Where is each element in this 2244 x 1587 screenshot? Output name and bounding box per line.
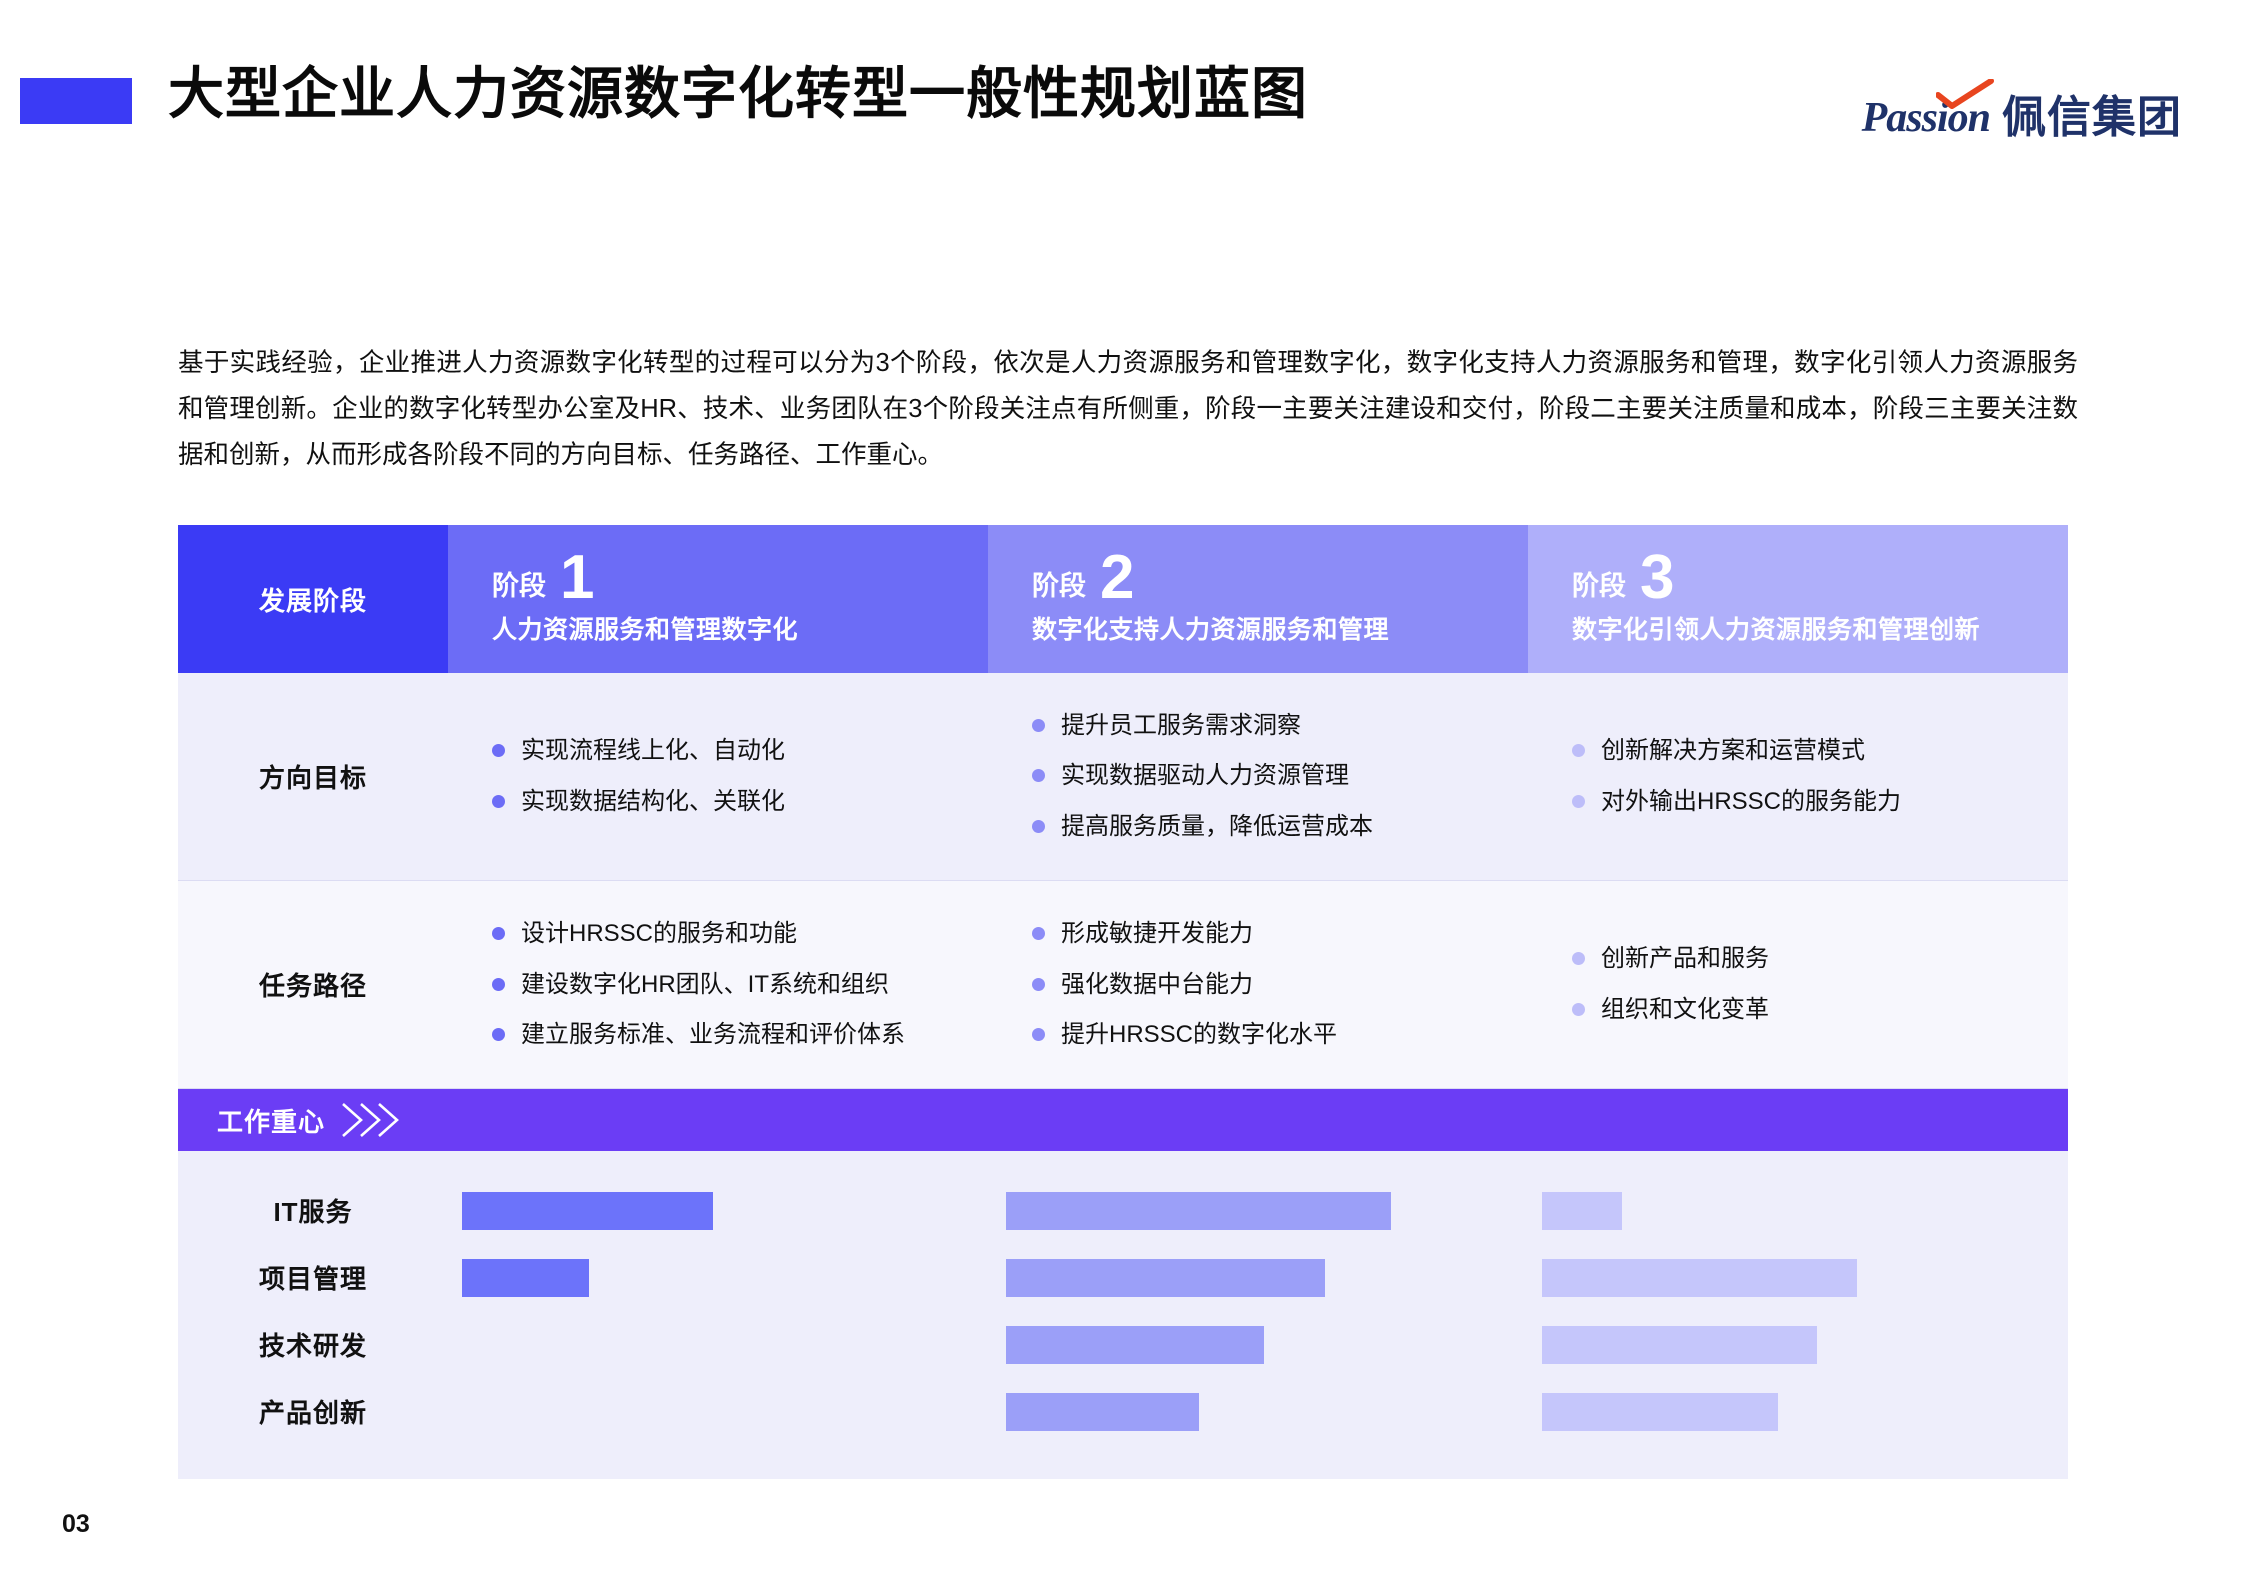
stage-word-3: 阶段 <box>1572 573 1626 604</box>
list-item: 创新产品和服务 <box>1572 934 2038 984</box>
brand-logo: Passion 佩信集团 <box>1862 88 2182 148</box>
bullet-icon <box>492 978 505 991</box>
stage-subtitle-2: 数字化支持人力资源服务和管理 <box>1032 610 1528 646</box>
chart-track-stage-3 <box>1528 1378 2068 1445</box>
paths-stage-3: 创新产品和服务 组织和文化变革 <box>1528 881 2068 1088</box>
table-row-paths: 任务路径 设计HRSSC的服务和功能 建设数字化HR团队、IT系统和组织 建立服… <box>178 881 2068 1089</box>
bar-stage3-it-service <box>1542 1192 1622 1230</box>
goals-stage-2: 提升员工服务需求洞察 实现数据驱动人力资源管理 提高服务质量，降低运营成本 <box>988 673 1528 880</box>
chart-category-label: IT服务 <box>178 1192 448 1229</box>
list-item: 建设数字化HR团队、IT系统和组织 <box>492 960 958 1010</box>
chart-category-label: 项目管理 <box>178 1259 448 1296</box>
bar-stage1-project-mgmt <box>462 1259 589 1297</box>
chart-row-tech-rnd: 技术研发 <box>178 1311 2068 1378</box>
bar-stage3-tech-rnd <box>1542 1326 1817 1364</box>
list-item: 提升员工服务需求洞察 <box>1032 701 1498 751</box>
goals-stage-1: 实现流程线上化、自动化 实现数据结构化、关联化 <box>448 673 988 880</box>
bullet-icon <box>1032 820 1045 833</box>
bullet-icon <box>492 1028 505 1041</box>
page-number: 03 <box>62 1510 90 1539</box>
bullet-icon <box>1572 795 1585 808</box>
table-header-row: 发展阶段 阶段 1 人力资源服务和管理数字化 阶段 2 数字化支持人力资源服务和… <box>178 525 2068 673</box>
list-item-label: 建立服务标准、业务流程和评价体系 <box>521 1019 905 1051</box>
list-item: 设计HRSSC的服务和功能 <box>492 909 958 959</box>
stage-subtitle-1: 人力资源服务和管理数字化 <box>492 610 988 646</box>
chart-row-product-innovation: 产品创新 <box>178 1378 2068 1445</box>
list-item-label: 强化数据中台能力 <box>1061 969 1253 1001</box>
row-header-focus-wrap: 工作重心 <box>178 1100 448 1140</box>
focus-bar: 工作重心 <box>178 1089 2068 1151</box>
list-item: 建立服务标准、业务流程和评价体系 <box>492 1010 958 1060</box>
row-header-stage: 发展阶段 <box>178 525 448 673</box>
page-title: 大型企业人力资源数字化转型一般性规划蓝图 <box>168 62 1308 126</box>
list-item: 强化数据中台能力 <box>1032 960 1498 1010</box>
stage-word-2: 阶段 <box>1032 573 1086 604</box>
chart-track-stage-3 <box>1528 1244 2068 1311</box>
chart-category-label: 产品创新 <box>178 1393 448 1430</box>
bar-stage3-project-mgmt <box>1542 1259 1857 1297</box>
list-item: 提升HRSSC的数字化水平 <box>1032 1010 1498 1060</box>
logo-latin-text: Passion <box>1862 97 1990 139</box>
list-item-label: 实现数据结构化、关联化 <box>521 786 785 818</box>
list-item-label: 实现数据驱动人力资源管理 <box>1061 760 1349 792</box>
list-item-label: 创新产品和服务 <box>1601 943 1769 975</box>
list-item: 形成敏捷开发能力 <box>1032 909 1498 959</box>
list-item-label: 提高服务质量，降低运营成本 <box>1061 811 1373 843</box>
bar-stage2-project-mgmt <box>1006 1259 1325 1297</box>
stage-number-2: 2 <box>1100 552 1134 605</box>
stage-header-2: 阶段 2 数字化支持人力资源服务和管理 <box>988 525 1528 673</box>
bar-stage2-product-innovation <box>1006 1393 1199 1431</box>
list-item-label: 提升员工服务需求洞察 <box>1061 710 1301 742</box>
double-chevron-right-icon <box>339 1100 409 1140</box>
list-item-label: 创新解决方案和运营模式 <box>1601 735 1865 767</box>
bullet-icon <box>1032 927 1045 940</box>
bar-stage2-tech-rnd <box>1006 1326 1264 1364</box>
chart-track-stage-2 <box>988 1177 1528 1244</box>
paths-stage-2: 形成敏捷开发能力 强化数据中台能力 提升HRSSC的数字化水平 <box>988 881 1528 1088</box>
bullet-icon <box>492 744 505 757</box>
list-item: 组织和文化变革 <box>1572 985 2038 1035</box>
bullet-icon <box>1032 1028 1045 1041</box>
bullet-icon <box>492 927 505 940</box>
row-header-path: 任务路径 <box>178 881 448 1088</box>
bar-stage1-it-service <box>462 1192 713 1230</box>
row-header-goal: 方向目标 <box>178 673 448 880</box>
list-item-label: 提升HRSSC的数字化水平 <box>1061 1019 1337 1051</box>
bar-stage3-product-innovation <box>1542 1393 1778 1431</box>
list-item: 创新解决方案和运营模式 <box>1572 726 2038 776</box>
stage-subtitle-3: 数字化引领人力资源服务和管理创新 <box>1572 610 2068 646</box>
title-accent-block <box>20 78 132 124</box>
roadmap-table: 发展阶段 阶段 1 人力资源服务和管理数字化 阶段 2 数字化支持人力资源服务和… <box>178 525 2068 1479</box>
list-item: 实现数据驱动人力资源管理 <box>1032 751 1498 801</box>
chart-category-label: 技术研发 <box>178 1326 448 1363</box>
chart-track-stage-3 <box>1528 1311 2068 1378</box>
stage-header-3: 阶段 3 数字化引领人力资源服务和管理创新 <box>1528 525 2068 673</box>
chart-track-stage-1 <box>448 1244 988 1311</box>
list-item-label: 形成敏捷开发能力 <box>1061 918 1253 950</box>
bullet-icon <box>1032 719 1045 732</box>
bullet-icon <box>1572 952 1585 965</box>
list-item-label: 对外输出HRSSC的服务能力 <box>1601 786 1901 818</box>
focus-bar-chart: IT服务 项目管理 技术研发 产品创新 <box>178 1151 2068 1479</box>
bullet-icon <box>492 795 505 808</box>
check-icon <box>1936 79 1994 109</box>
table-row-goals: 方向目标 实现流程线上化、自动化 实现数据结构化、关联化 提升员工服务需求洞察 … <box>178 673 2068 881</box>
chart-track-stage-3 <box>1528 1177 2068 1244</box>
chart-track-stage-2 <box>988 1311 1528 1378</box>
chart-track-stage-1 <box>448 1378 988 1445</box>
list-item-label: 设计HRSSC的服务和功能 <box>521 918 797 950</box>
stage-number-3: 3 <box>1640 552 1674 605</box>
chart-track-stage-1 <box>448 1177 988 1244</box>
list-item-label: 建设数字化HR团队、IT系统和组织 <box>521 969 889 1001</box>
row-header-focus: 工作重心 <box>217 1102 325 1139</box>
list-item: 提高服务质量，降低运营成本 <box>1032 802 1498 852</box>
chart-track-stage-2 <box>988 1378 1528 1445</box>
chart-track-stage-2 <box>988 1244 1528 1311</box>
list-item-label: 实现流程线上化、自动化 <box>521 735 785 767</box>
list-item: 实现数据结构化、关联化 <box>492 777 958 827</box>
bullet-icon <box>1032 978 1045 991</box>
chart-row-it-service: IT服务 <box>178 1177 2068 1244</box>
bullet-icon <box>1572 744 1585 757</box>
paths-stage-1: 设计HRSSC的服务和功能 建设数字化HR团队、IT系统和组织 建立服务标准、业… <box>448 881 988 1088</box>
bar-stage2-it-service <box>1006 1192 1391 1230</box>
chart-track-stage-1 <box>448 1311 988 1378</box>
list-item-label: 组织和文化变革 <box>1601 994 1769 1026</box>
stage-word-1: 阶段 <box>492 573 546 604</box>
goals-stage-3: 创新解决方案和运营模式 对外输出HRSSC的服务能力 <box>1528 673 2068 880</box>
list-item: 实现流程线上化、自动化 <box>492 726 958 776</box>
chart-row-project-mgmt: 项目管理 <box>178 1244 2068 1311</box>
stage-number-1: 1 <box>560 552 594 605</box>
list-item: 对外输出HRSSC的服务能力 <box>1572 777 2038 827</box>
bullet-icon <box>1572 1003 1585 1016</box>
page-header: 大型企业人力资源数字化转型一般性规划蓝图 Passion 佩信集团 <box>0 0 2244 190</box>
bullet-icon <box>1032 769 1045 782</box>
intro-paragraph: 基于实践经验，企业推进人力资源数字化转型的过程可以分为3个阶段，依次是人力资源服… <box>178 340 2078 478</box>
stage-header-1: 阶段 1 人力资源服务和管理数字化 <box>448 525 988 673</box>
logo-cn-label: 佩信集团 <box>2002 96 2182 140</box>
